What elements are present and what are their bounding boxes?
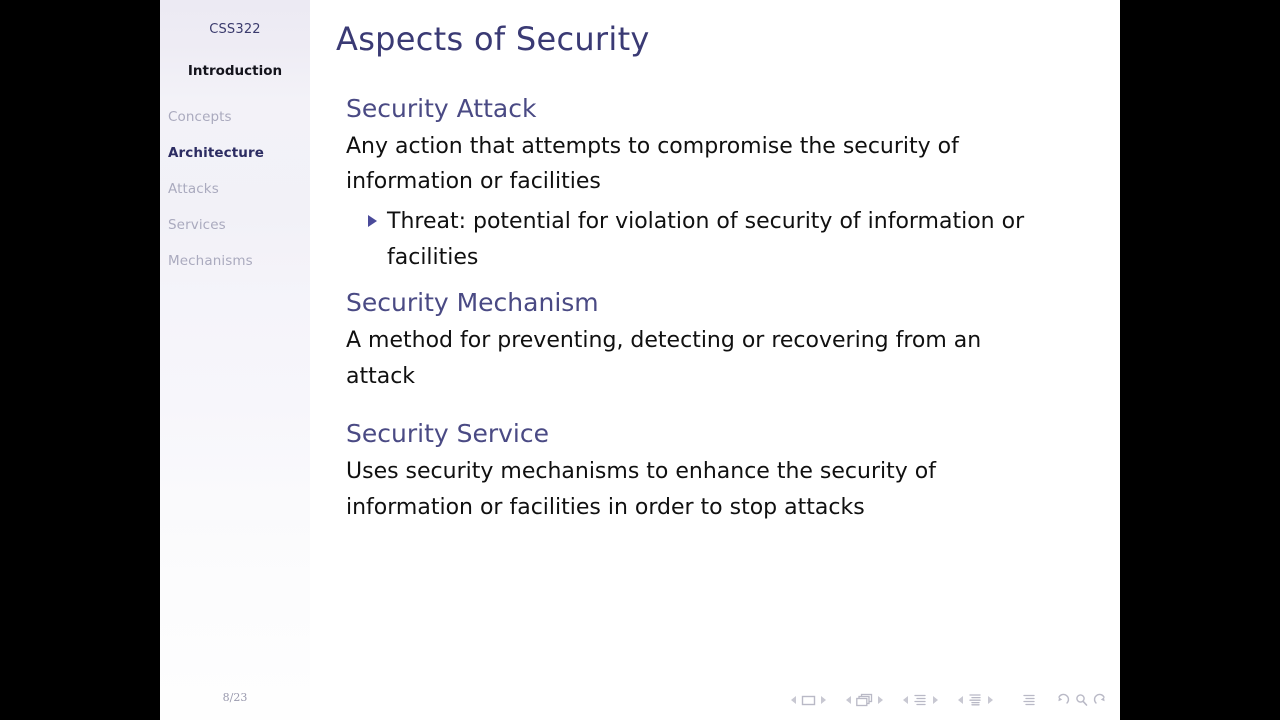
sidebar: CSS322 Introduction Concepts Architectur… — [160, 0, 310, 720]
block-title: Security Attack — [346, 95, 1091, 124]
block-title: Security Service — [346, 420, 1091, 449]
previous-subsection-icon[interactable] — [903, 696, 908, 704]
nav-group-section — [953, 693, 998, 707]
bullet-list: Threat: potential for violation of secur… — [368, 204, 1091, 275]
block-body: A method for preventing, detecting or re… — [346, 323, 1046, 394]
content-area: Security Attack Any action that attempts… — [346, 95, 1091, 549]
nav-group-slide — [786, 694, 831, 707]
nav-group-subsection — [898, 693, 943, 707]
block-body: Any action that attempts to compromise t… — [346, 129, 1046, 200]
list-item: Threat: potential for violation of secur… — [368, 204, 1091, 275]
beamer-navigation-bar — [786, 690, 1110, 710]
block-security-attack: Security Attack Any action that attempts… — [346, 95, 1091, 275]
page-number: 8/23 — [160, 691, 310, 704]
sidebar-item-services[interactable]: Services — [160, 217, 310, 233]
block-security-service: Security Service Uses security mechanism… — [346, 420, 1091, 525]
frame-icon[interactable] — [856, 693, 873, 708]
slide-icon[interactable] — [801, 694, 816, 707]
block-body: Uses security mechanisms to enhance the … — [346, 454, 1046, 525]
next-section-icon[interactable] — [988, 696, 993, 704]
previous-frame-icon[interactable] — [846, 696, 851, 704]
sidebar-item-mechanisms[interactable]: Mechanisms — [160, 253, 310, 269]
section-icon[interactable] — [968, 693, 983, 707]
page-title: Aspects of Security — [336, 20, 650, 58]
forward-icon[interactable] — [1093, 693, 1108, 707]
bullet-text: Threat: potential for violation of secur… — [387, 204, 1077, 275]
back-icon[interactable] — [1055, 693, 1070, 707]
previous-slide-icon[interactable] — [791, 696, 796, 704]
table-of-contents-icon[interactable] — [1022, 693, 1037, 707]
previous-section-icon[interactable] — [958, 696, 963, 704]
next-slide-icon[interactable] — [821, 696, 826, 704]
sidebar-item-attacks[interactable]: Attacks — [160, 181, 310, 197]
next-subsection-icon[interactable] — [933, 696, 938, 704]
sidebar-nav-list: Concepts Architecture Attacks Services M… — [160, 109, 310, 269]
sidebar-section-title: Introduction — [160, 63, 310, 79]
next-frame-icon[interactable] — [878, 696, 883, 704]
block-title: Security Mechanism — [346, 289, 1091, 318]
block-security-mechanism: Security Mechanism A method for preventi… — [346, 289, 1091, 394]
slide: CSS322 Introduction Concepts Architectur… — [160, 0, 1120, 720]
sidebar-course-title: CSS322 — [160, 22, 310, 37]
sidebar-item-architecture[interactable]: Architecture — [160, 145, 310, 161]
sidebar-item-concepts[interactable]: Concepts — [160, 109, 310, 125]
nav-group-frame — [841, 693, 888, 708]
subsection-icon[interactable] — [913, 693, 928, 707]
presentation-screen: CSS322 Introduction Concepts Architectur… — [0, 0, 1280, 720]
slide-body: Aspects of Security Security Attack Any … — [310, 0, 1120, 720]
nav-group-tools — [1020, 693, 1110, 707]
triangle-bullet-icon — [368, 215, 377, 227]
search-icon[interactable] — [1074, 693, 1089, 707]
